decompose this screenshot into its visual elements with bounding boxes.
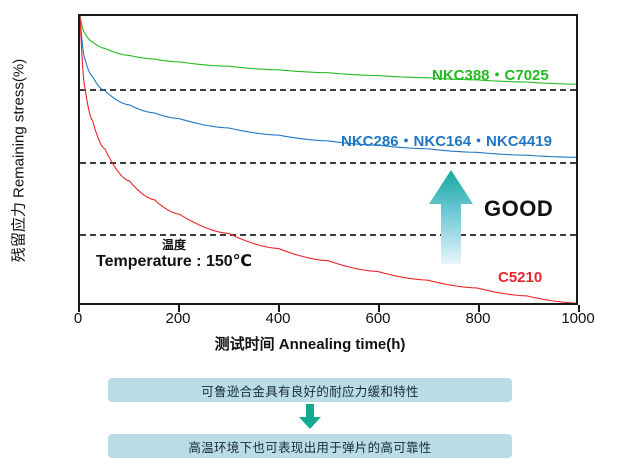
series-label-red: C5210 [498,269,542,286]
series-label-green: NKC388・C7025 [432,64,549,85]
series-label-blue: NKC286・NKC164・NKC4419 [341,130,552,151]
x-tick-1000: 1000 [548,310,608,327]
x-tick-0: 0 [48,310,108,327]
x-tick-800: 800 [448,310,508,327]
good-up-arrow-icon [428,168,474,266]
chart-page: 残留应力 Remaining stress(%) 100 90 80 70 60… [0,0,620,466]
temperature-label-en: Temperature : 150℃ [96,252,252,273]
callout-box-2: 高温环境下也可表现出用于弹片的高可靠性 [108,434,512,458]
temperature-annotation: 温度 Temperature : 150℃ [96,238,252,273]
y-axis-label: 残留应力 Remaining stress(%) [8,11,29,311]
x-tick-200: 200 [148,310,208,327]
down-arrow-icon [297,404,323,430]
callout-box-1: 可鲁逊合金具有良好的耐应力缓和特性 [108,378,512,402]
temperature-label-cn: 温度 [96,238,252,252]
x-axis-label: 测试时间 Annealing time(h) [0,333,620,354]
x-tick-600: 600 [348,310,408,327]
x-tick-400: 400 [248,310,308,327]
good-label: GOOD [484,196,553,222]
chart-figure: 残留应力 Remaining stress(%) 100 90 80 70 60… [0,0,620,370]
